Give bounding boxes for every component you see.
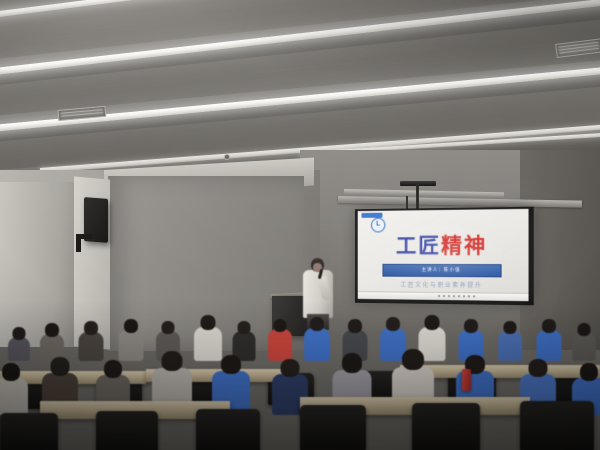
audience-member-head bbox=[348, 319, 362, 333]
audience-member-head bbox=[386, 317, 400, 331]
speaker-bracket-post bbox=[76, 234, 81, 252]
audience-member-head bbox=[162, 351, 183, 371]
slide-title-blue: 工匠 bbox=[396, 234, 441, 258]
presentation-slide: L 工匠精神 主讲人：陈小强 工匠文化与职业素养提升 bbox=[358, 209, 529, 301]
audience-member-head bbox=[124, 319, 138, 333]
audience-member bbox=[8, 327, 30, 361]
audience-member-head bbox=[504, 321, 517, 334]
audience-member bbox=[572, 323, 596, 361]
audience-member bbox=[536, 319, 561, 361]
audience-member-head bbox=[51, 357, 70, 376]
audience-member-head bbox=[162, 321, 175, 334]
slide-title-red: 精神 bbox=[441, 234, 487, 258]
red-cup-on-desk bbox=[462, 369, 471, 391]
slide-presenter-banner: 主讲人：陈小强 bbox=[382, 264, 501, 278]
audience-member bbox=[268, 319, 292, 361]
audience-member-torso bbox=[536, 330, 561, 361]
audience-member-head bbox=[221, 355, 241, 374]
audience-member-torso bbox=[8, 337, 30, 361]
audience-member-head bbox=[13, 327, 26, 340]
audience-member-torso bbox=[572, 333, 596, 361]
audience-member-head bbox=[310, 317, 324, 331]
chair-front-1 bbox=[0, 413, 58, 450]
audience-member-head bbox=[464, 319, 478, 333]
slide-title: 工匠精神 bbox=[358, 236, 529, 258]
audience-member bbox=[498, 321, 522, 361]
chair-front-3 bbox=[196, 409, 260, 450]
audience-member-head bbox=[281, 359, 300, 377]
audience-member bbox=[40, 323, 64, 361]
chair-front-2 bbox=[96, 411, 158, 450]
chair-front-5 bbox=[412, 403, 480, 450]
projection-screen[interactable]: L 工匠精神 主讲人：陈小强 工匠文化与职业素养提升 bbox=[358, 209, 529, 301]
audience-member-head bbox=[45, 323, 59, 337]
audience-member-head bbox=[342, 353, 362, 373]
audience-member-torso bbox=[304, 328, 330, 361]
chair-front-4 bbox=[300, 405, 366, 450]
audience-member-head bbox=[402, 349, 424, 370]
audience-member-torso bbox=[268, 329, 292, 361]
audience-member-head bbox=[237, 321, 250, 334]
company-logo-icon: L bbox=[371, 218, 385, 233]
audience-member-head bbox=[424, 315, 439, 330]
audience-member-torso bbox=[0, 378, 28, 415]
audience-member-head bbox=[104, 360, 122, 378]
audience-member bbox=[0, 363, 28, 415]
audience-member-torso bbox=[118, 330, 143, 361]
audience-member-head bbox=[2, 363, 20, 381]
audience-member-head bbox=[529, 359, 548, 377]
conference-room-photo: L 工匠精神 主讲人：陈小强 工匠文化与职业素养提升 bbox=[0, 0, 600, 450]
audience-member-head bbox=[274, 319, 287, 332]
chair-front-6 bbox=[520, 401, 594, 450]
audience-member-head bbox=[201, 315, 216, 330]
audience-member-torso bbox=[78, 332, 103, 361]
audience-area bbox=[0, 305, 600, 450]
taskbar-items-icon bbox=[438, 295, 478, 297]
audience-member-head bbox=[84, 321, 98, 335]
slide-subtitle: 工匠文化与职业素养提升 bbox=[358, 279, 529, 289]
audience-member-torso bbox=[498, 331, 522, 361]
audience-member-head bbox=[580, 363, 598, 381]
audience-member bbox=[304, 317, 330, 361]
audience-member-head bbox=[542, 319, 556, 333]
audience-member-head bbox=[578, 323, 591, 336]
audience-member bbox=[118, 319, 143, 361]
audience-member bbox=[78, 321, 103, 361]
ceiling-shading bbox=[0, 0, 600, 205]
